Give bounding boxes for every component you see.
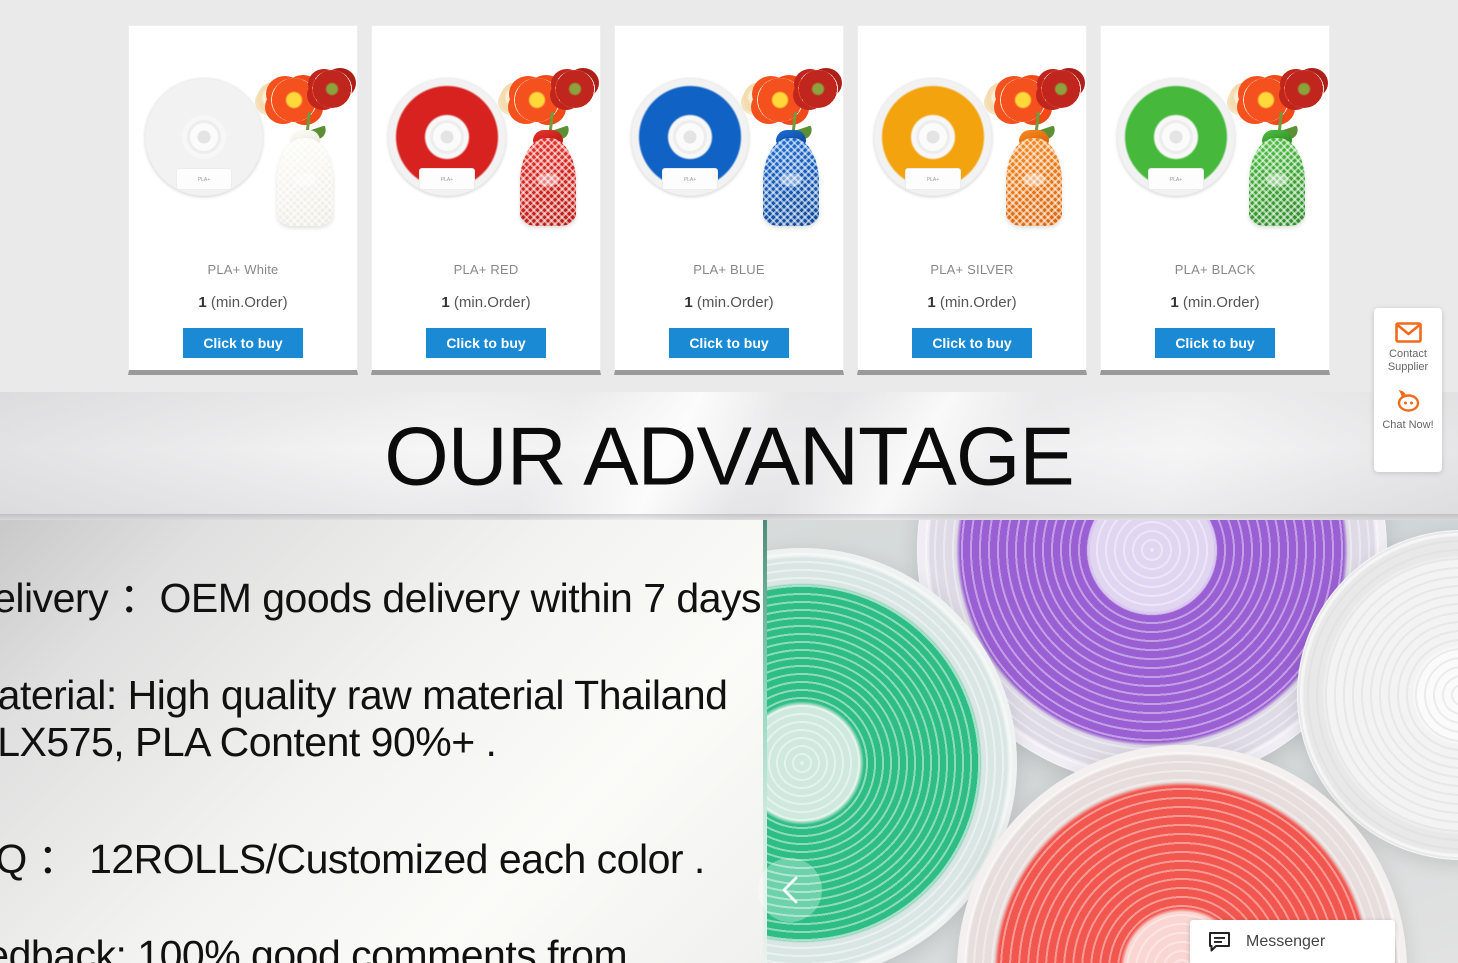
flower-red-icon	[798, 70, 838, 108]
min-order-qty: 1	[684, 294, 692, 311]
spool-label: PLA+	[419, 168, 475, 190]
product-image: PLA+	[129, 26, 357, 248]
product-title: PLA+ BLUE	[693, 262, 765, 277]
product-title: PLA+ SILVER	[930, 262, 1013, 277]
product-title: PLA+ White	[207, 262, 278, 277]
detail-text-line: Delivery ：OEM goods delivery within 7 da…	[0, 564, 767, 624]
filament-spool-icon: PLA+	[388, 78, 506, 196]
min-order-unit: (min.Order)	[211, 294, 288, 311]
contact-supplier-button[interactable]: Contact Supplier	[1374, 322, 1442, 374]
chat-now-label: Chat Now!	[1382, 419, 1433, 432]
spool-label: PLA+	[905, 168, 961, 190]
printed-vase	[763, 138, 819, 226]
min-order-unit: (min.Order)	[454, 294, 531, 311]
product-detail-photo: Delivery ：OEM goods delivery within 7 da…	[0, 520, 767, 963]
product-min-order: 1 (min.Order)	[927, 294, 1016, 311]
printed-vase	[277, 138, 333, 226]
product-card[interactable]: PLA+ PLA+ RED 1 (min.Order) Click to buy	[371, 25, 601, 375]
spool-label: PLA+	[662, 168, 718, 190]
click-to-buy-button[interactable]: Click to buy	[1155, 328, 1274, 358]
product-image: PLA+	[858, 26, 1086, 248]
product-card[interactable]: PLA+ PLA+ SILVER 1 (min.Order) Click to …	[857, 25, 1087, 375]
min-order-qty: 1	[927, 294, 935, 311]
filament-spool-icon: PLA+	[874, 78, 992, 196]
detail-text-line: e LX575, PLA Content 90%+ .	[0, 719, 496, 766]
chat-bubble-icon	[1396, 390, 1421, 414]
detail-text-line: eedback: 100% good comments from	[0, 932, 627, 963]
page-root: PLA+ PLA+ White 1 (min.Order) Click to b…	[0, 0, 1458, 963]
product-min-order: 1 (min.Order)	[198, 294, 287, 311]
min-order-qty: 1	[441, 294, 449, 311]
product-cards-row: PLA+ PLA+ White 1 (min.Order) Click to b…	[128, 25, 1330, 375]
banner-title: OUR ADVANTAGE	[0, 415, 1458, 498]
messenger-widget[interactable]: Messenger	[1190, 920, 1395, 963]
filament-spool-icon: PLA+	[1117, 78, 1235, 196]
click-to-buy-button[interactable]: Click to buy	[669, 328, 788, 358]
our-advantage-banner: OUR ADVANTAGE	[0, 392, 1458, 520]
filament-spool-icon: PLA+	[145, 78, 263, 196]
product-image: PLA+	[615, 26, 843, 248]
detail-text-line: material: High quality raw material Thai…	[0, 672, 727, 719]
product-title: PLA+ BLACK	[1175, 262, 1255, 277]
product-card[interactable]: PLA+ PLA+ BLACK 1 (min.Order) Click to b…	[1100, 25, 1330, 375]
click-to-buy-button[interactable]: Click to buy	[912, 328, 1031, 358]
filament-spools-photo	[767, 520, 1458, 963]
chevron-left-icon	[777, 875, 803, 905]
bottom-media-area: Delivery ：OEM goods delivery within 7 da…	[0, 520, 1458, 963]
messenger-icon	[1208, 931, 1231, 953]
carousel-prev-button[interactable]	[758, 858, 822, 922]
detail-text-line: OQ ： 12ROLLS/Customized each color .	[0, 825, 705, 885]
flower-red-icon	[312, 70, 352, 108]
min-order-unit: (min.Order)	[697, 294, 774, 311]
min-order-unit: (min.Order)	[940, 294, 1017, 311]
contact-supplier-label-line1: Contact	[1389, 348, 1427, 360]
printed-vase	[1006, 138, 1062, 226]
printed-vase	[1249, 138, 1305, 226]
flower-red-icon	[555, 70, 595, 108]
contact-supplier-label-line2: Supplier	[1388, 361, 1428, 373]
product-card[interactable]: PLA+ PLA+ BLUE 1 (min.Order) Click to bu…	[614, 25, 844, 375]
min-order-qty: 1	[198, 294, 206, 311]
product-min-order: 1 (min.Order)	[441, 294, 530, 311]
click-to-buy-button[interactable]: Click to buy	[183, 328, 302, 358]
product-card[interactable]: PLA+ PLA+ White 1 (min.Order) Click to b…	[128, 25, 358, 375]
printed-vase	[520, 138, 576, 226]
product-card-strip: PLA+ PLA+ White 1 (min.Order) Click to b…	[0, 0, 1458, 392]
flower-red-icon	[1284, 70, 1324, 108]
chat-now-button[interactable]: Chat Now!	[1374, 390, 1442, 432]
min-order-unit: (min.Order)	[1183, 294, 1260, 311]
product-image: PLA+	[372, 26, 600, 248]
product-min-order: 1 (min.Order)	[684, 294, 773, 311]
messenger-label: Messenger	[1246, 933, 1325, 951]
spool-label: PLA+	[1148, 168, 1204, 190]
click-to-buy-button[interactable]: Click to buy	[426, 328, 545, 358]
flower-red-icon	[1041, 70, 1081, 108]
min-order-qty: 1	[1170, 294, 1178, 311]
contact-supplier-label: Contact Supplier	[1388, 348, 1428, 374]
product-min-order: 1 (min.Order)	[1170, 294, 1259, 311]
contact-floating-panel: Contact Supplier Chat Now!	[1374, 308, 1442, 472]
product-image: PLA+	[1101, 26, 1329, 248]
product-title: PLA+ RED	[454, 262, 519, 277]
spool-label: PLA+	[176, 168, 232, 190]
filament-spool-icon: PLA+	[631, 78, 749, 196]
envelope-icon	[1395, 322, 1422, 343]
